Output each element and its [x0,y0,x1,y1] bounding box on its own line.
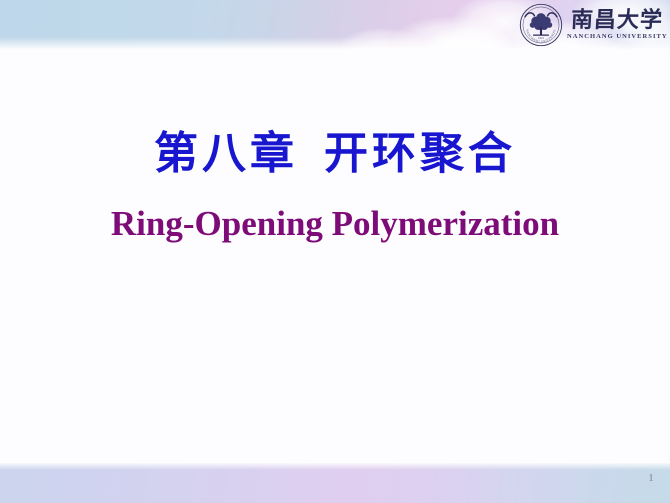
page-number: 1 [640,472,662,484]
university-name-en: NANCHANG UNIVERSITY [567,34,668,41]
chapter-topic: 开环聚合 [324,128,516,179]
university-logo: 1921 NANCHANG UNIVERSITY 南昌大学 NANCHANG U… [519,2,667,48]
presentation-slide: 1921 NANCHANG UNIVERSITY 南昌大学 NANCHANG U… [0,0,670,503]
university-wordmark: 南昌大学 NANCHANG UNIVERSITY [567,10,668,41]
slide-content: 第八章开环聚合 Ring-Opening Polymerization [0,49,670,463]
footer-band-fade [0,463,670,470]
slide-footer-band [0,463,670,503]
chapter-label: 第八章 [154,128,298,179]
slide-title-english: Ring-Opening Polymerization [0,204,670,244]
university-seal-icon: 1921 NANCHANG UNIVERSITY [519,3,563,47]
slide-title-chinese: 第八章开环聚合 [0,117,670,181]
university-name-cn: 南昌大学 [571,10,664,32]
